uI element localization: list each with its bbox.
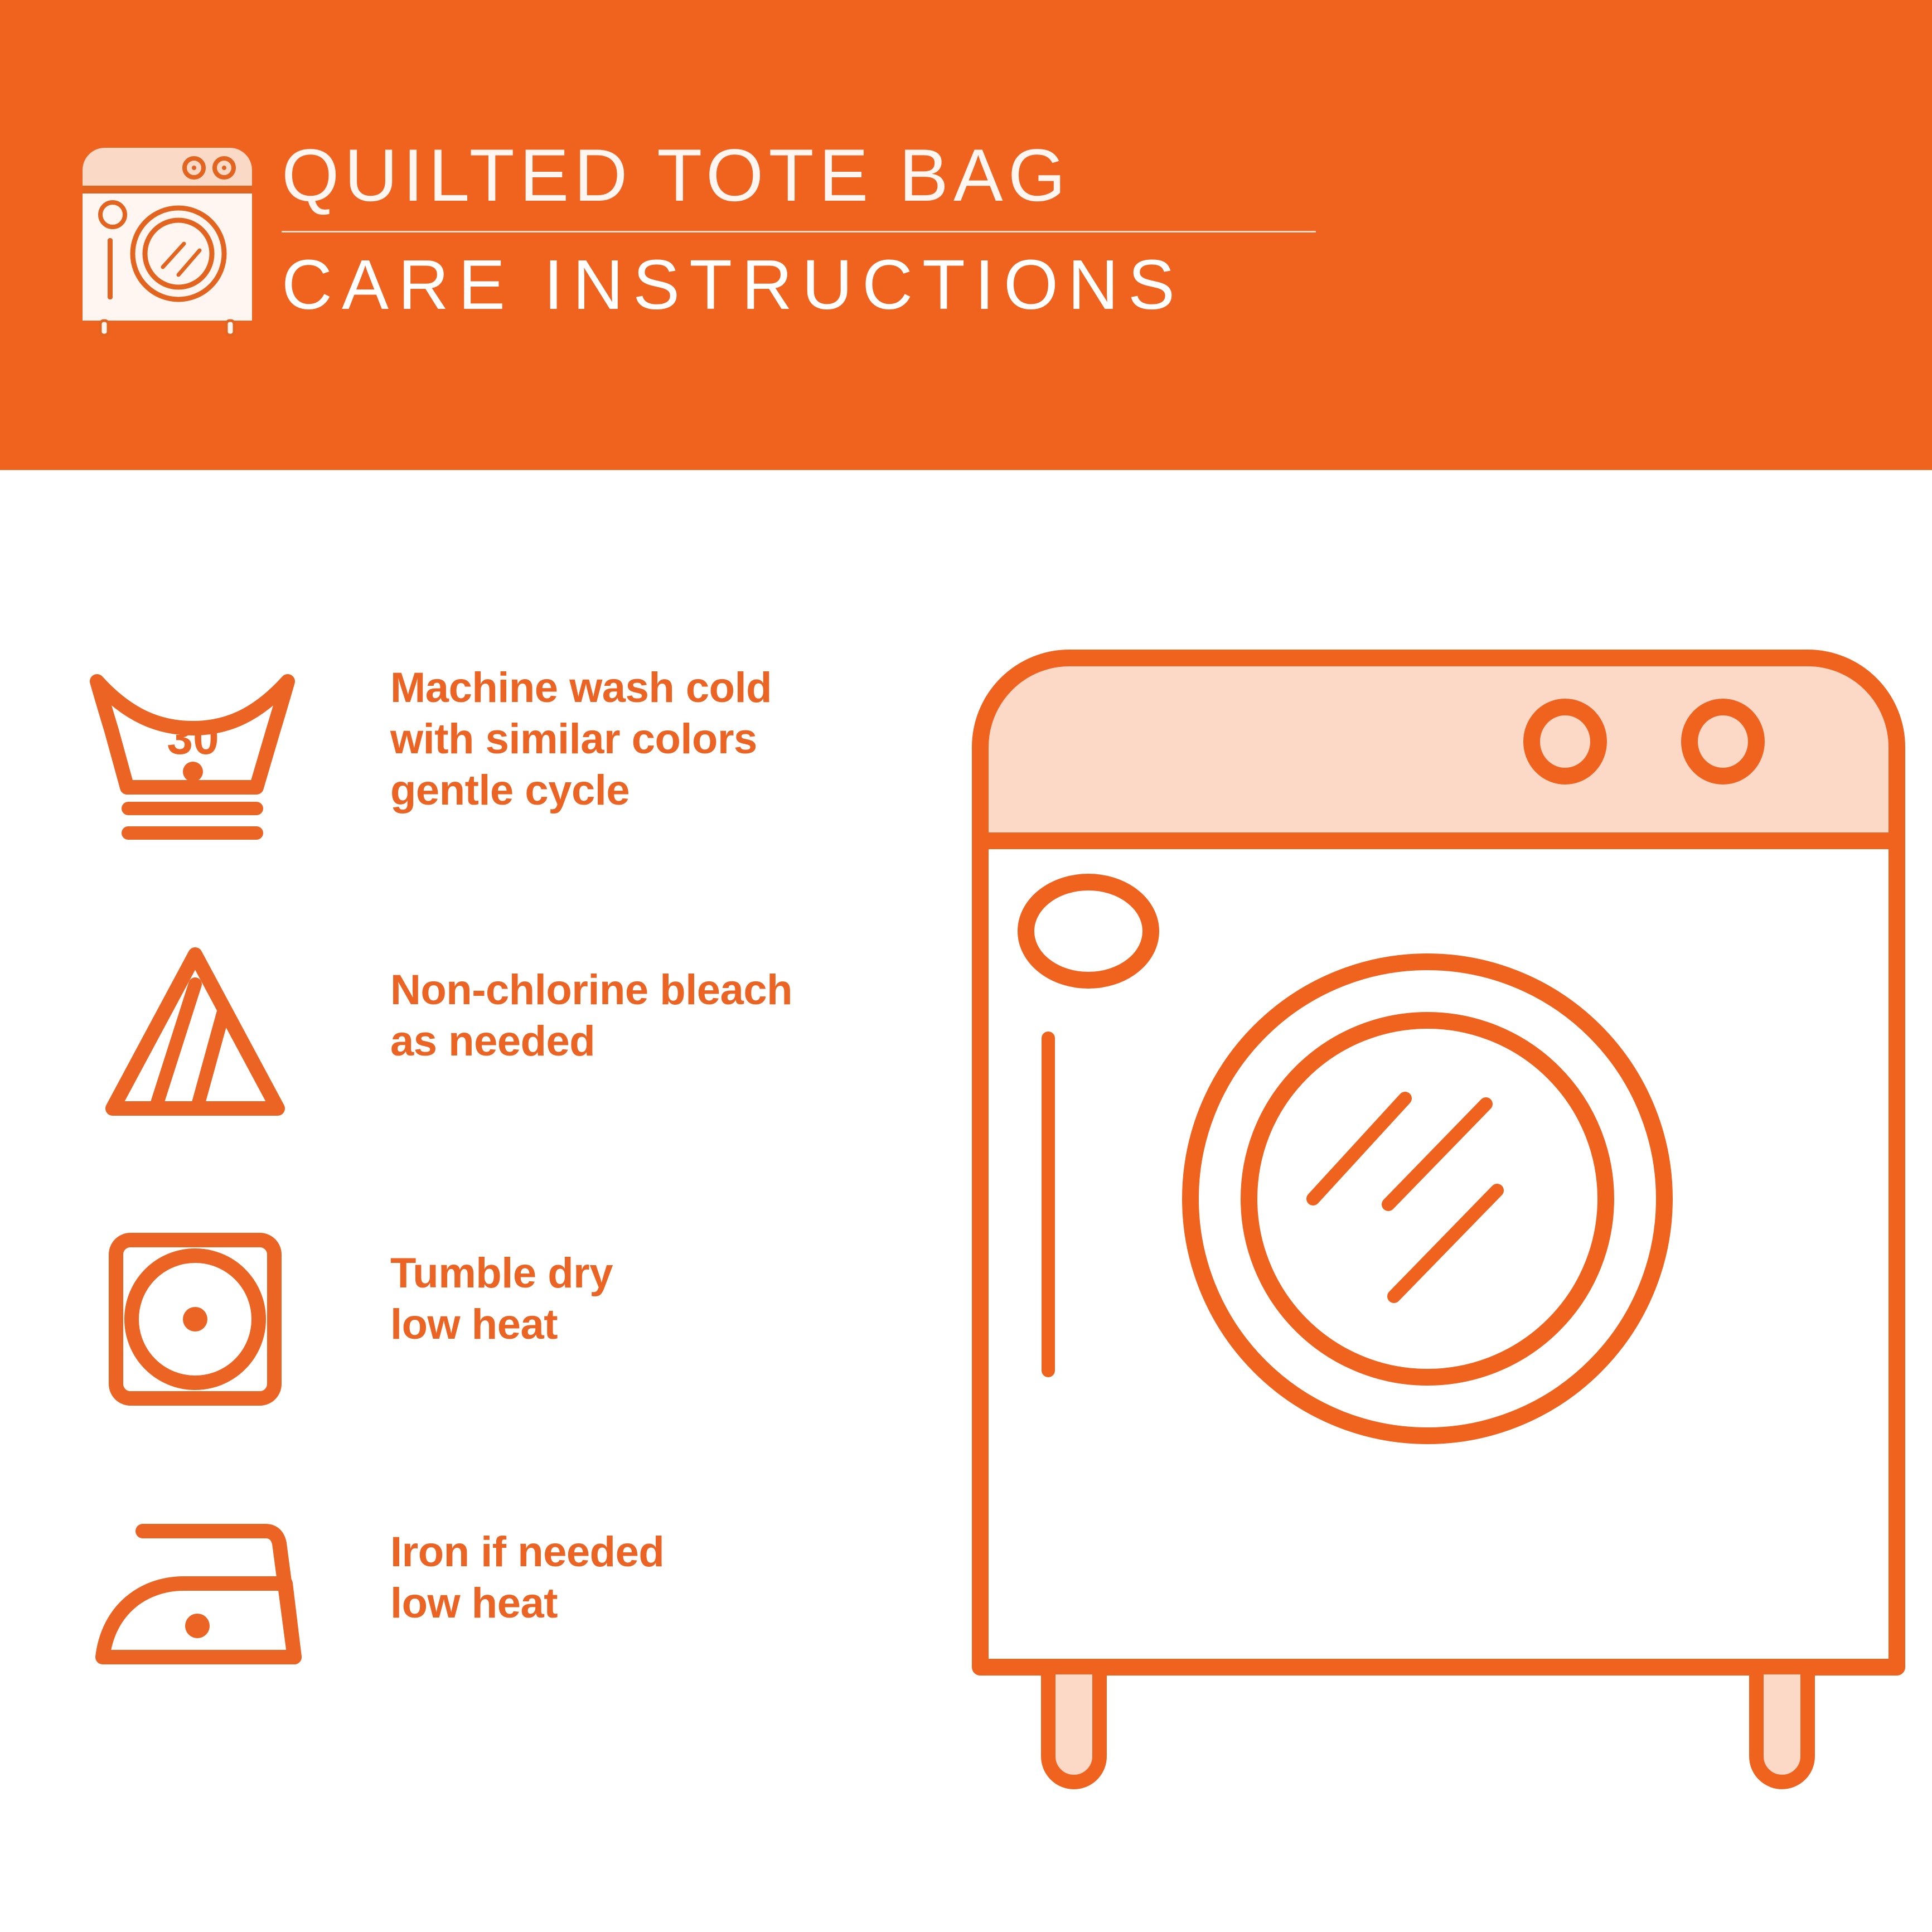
care-label-line-3: gentle cycle <box>390 765 772 816</box>
door-outer-ring <box>1190 962 1664 1436</box>
care-label-line-2: with similar colors <box>390 714 772 765</box>
care-label-line-2: low heat <box>390 1578 664 1629</box>
care-label-line-1: Machine wash cold <box>390 662 772 714</box>
care-label-line-2: low heat <box>390 1299 613 1350</box>
care-row: Iron if needed low heat <box>0 1483 948 1762</box>
page-title: QUILTED TOTE BAG <box>282 134 1324 217</box>
door-shine-lines <box>1313 1098 1497 1296</box>
care-row: Tumble dry low heat <box>0 1204 948 1483</box>
care-row: 30 Machine wash cold with similar colors… <box>0 647 948 926</box>
care-label: Non-chlorine bleach as needed <box>390 965 792 1067</box>
care-label-line-2: as needed <box>390 1016 792 1067</box>
care-label-line-1: Tumble dry <box>390 1248 613 1299</box>
svg-text:30: 30 <box>167 711 219 764</box>
bleach-triangle-non-chlorine-icon <box>89 931 301 1143</box>
status-bar <box>1042 1032 1055 1377</box>
detergent-dispenser <box>1026 882 1151 980</box>
foot-left <box>1048 1667 1100 1782</box>
header-text-block: QUILTED TOTE BAG CARE INSTRUCTIONS <box>282 134 1324 325</box>
foot-right <box>1756 1667 1808 1782</box>
washing-machine-illustration <box>965 641 1912 1879</box>
care-label: Iron if needed low heat <box>390 1527 664 1629</box>
iron-low-heat-icon <box>89 1500 301 1712</box>
care-label: Machine wash cold with similar colors ge… <box>390 662 772 816</box>
header-banner: QUILTED TOTE BAG CARE INSTRUCTIONS <box>0 0 1932 470</box>
washing-machine-icon <box>78 135 256 331</box>
care-row: Non-chlorine bleach as needed <box>0 926 948 1204</box>
page-subtitle: CARE INSTRUCTIONS <box>282 245 1324 325</box>
care-label: Tumble dry low heat <box>390 1248 613 1350</box>
care-instruction-list: 30 Machine wash cold with similar colors… <box>0 647 948 1762</box>
tumble-dry-low-heat-icon <box>89 1217 301 1429</box>
care-instructions-page: QUILTED TOTE BAG CARE INSTRUCTIONS 30 <box>0 0 1932 1932</box>
title-divider <box>282 231 1316 233</box>
wash-tub-30-gentle-icon: 30 <box>89 658 301 870</box>
care-label-line-1: Iron if needed <box>390 1527 664 1578</box>
door-inner-ring <box>1249 1020 1606 1377</box>
care-label-line-1: Non-chlorine bleach <box>390 965 792 1016</box>
